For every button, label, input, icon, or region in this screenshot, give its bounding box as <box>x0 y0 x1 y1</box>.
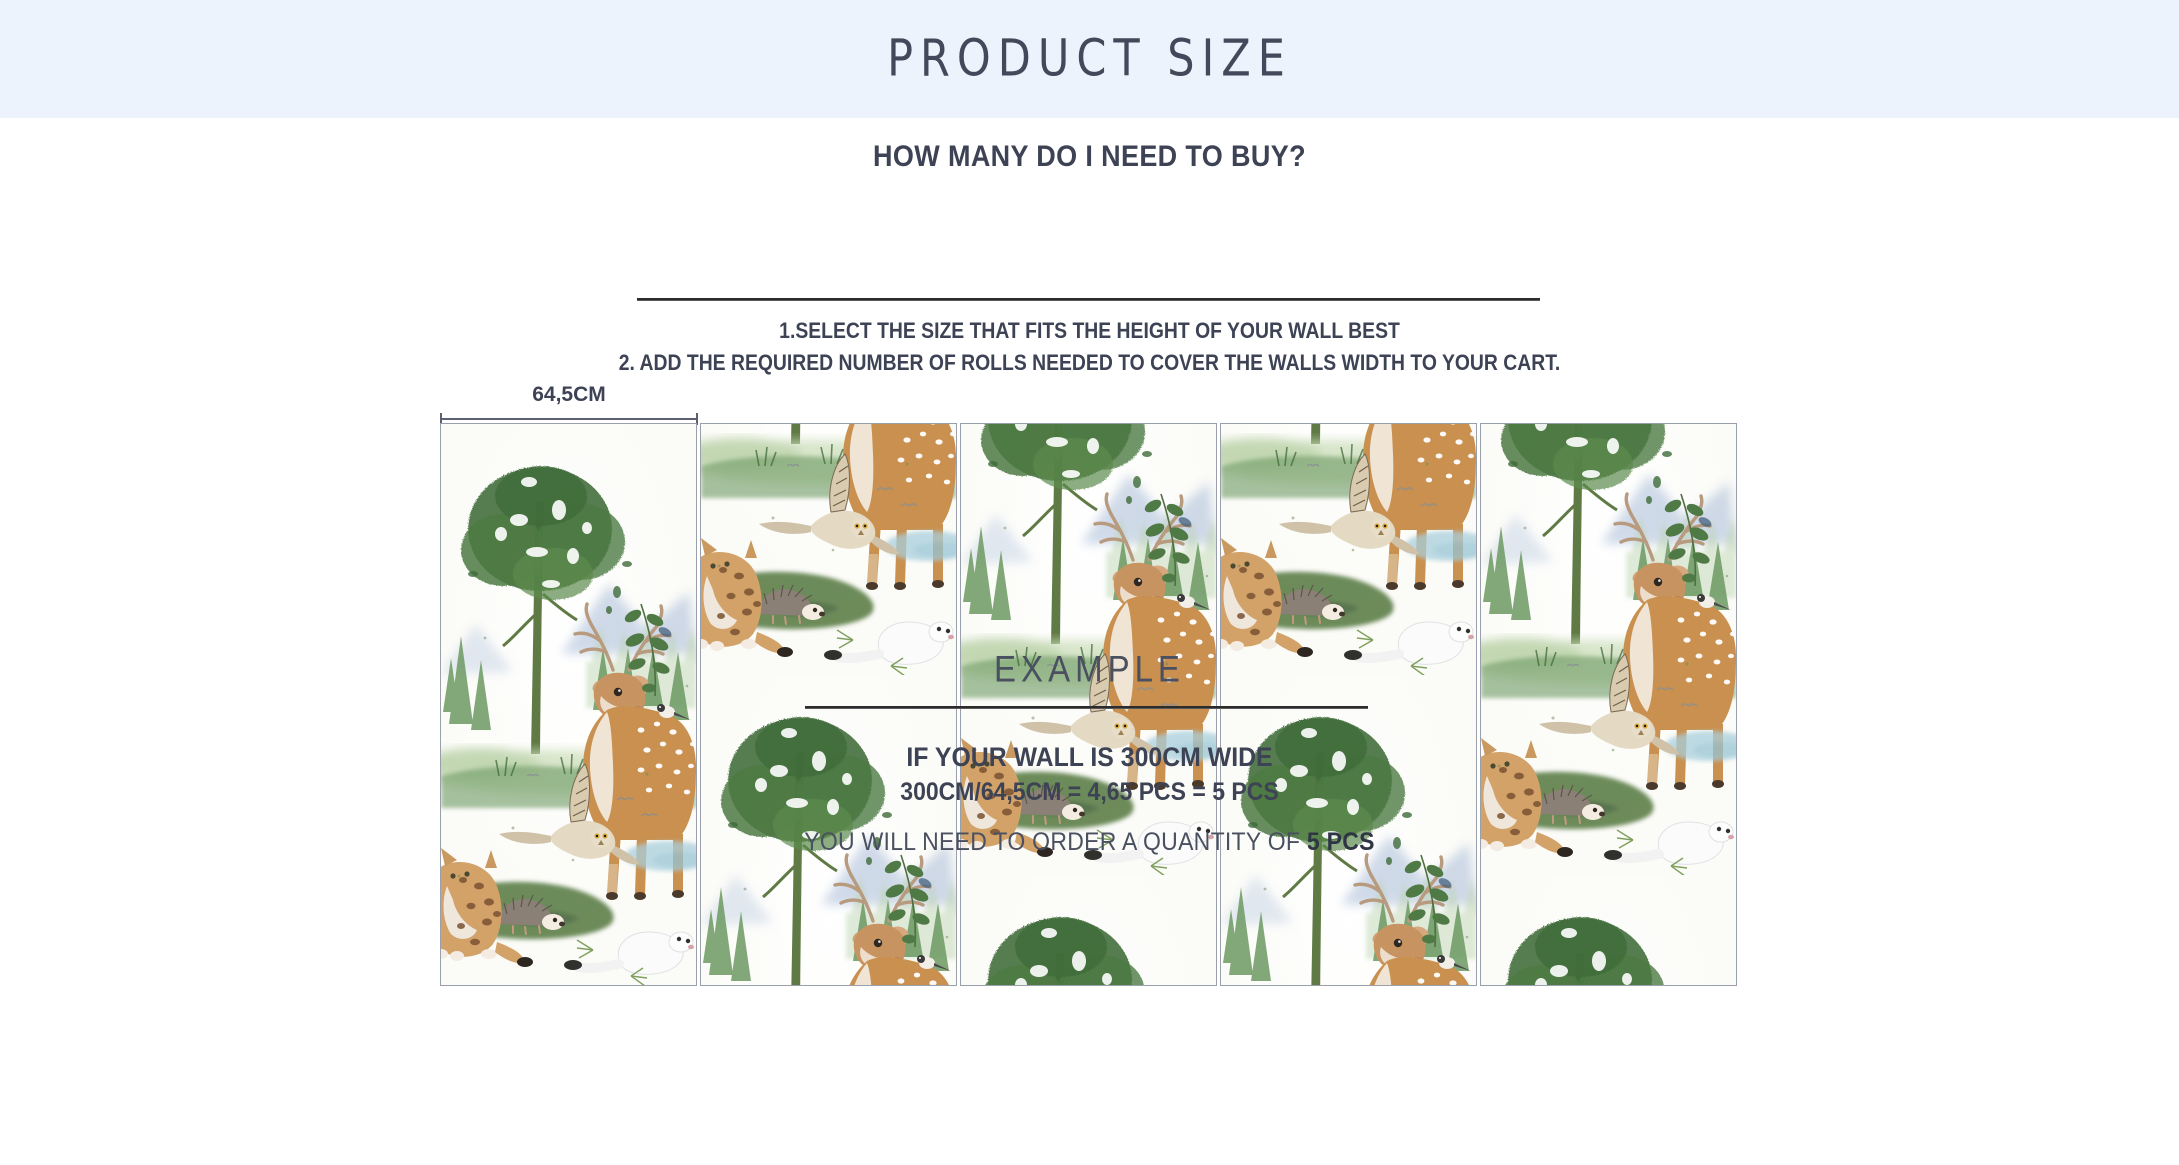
order-quantity-value: 5 PCS <box>1307 828 1375 856</box>
order-prefix-text: YOU WILL NEED TO ORDER A QUANTITY OF <box>804 828 1307 856</box>
wallpaper-pattern <box>441 424 696 986</box>
instruction-step-2: 2. ADD THE REQUIRED NUMBER OF ROLLS NEED… <box>131 350 2049 376</box>
wallpaper-roll[interactable] <box>700 423 957 986</box>
product-size-content: HOW MANY DO I NEED TO BUY? 1.SELECT THE … <box>0 118 2179 1165</box>
pattern-tile <box>701 423 956 675</box>
dimension-bar <box>440 418 698 420</box>
pattern-tile <box>441 424 696 985</box>
roll-width-label: 64,5CM <box>440 383 698 407</box>
pattern-tile <box>441 985 696 986</box>
example-order-quantity: YOU WILL NEED TO ORDER A QUANTITY OF 5 P… <box>87 828 2092 857</box>
wallpaper-roll[interactable] <box>1480 423 1737 986</box>
example-wall-width: IF YOUR WALL IS 300CM WIDE <box>87 742 2092 773</box>
wallpaper-pattern <box>961 423 1216 986</box>
wallpaper-roll[interactable] <box>960 423 1217 986</box>
instruction-step-1: 1.SELECT THE SIZE THAT FITS THE HEIGHT O… <box>131 318 2049 344</box>
wallpaper-roll-strip <box>440 423 1740 986</box>
wallpaper-pattern <box>1481 423 1736 986</box>
example-divider <box>805 706 1368 709</box>
heading-divider <box>637 298 1540 301</box>
wallpaper-pattern <box>701 423 956 986</box>
wallpaper-roll[interactable] <box>440 423 697 986</box>
pattern-tile <box>1481 875 1736 986</box>
product-size-header: PRODUCT SIZE <box>0 0 2179 118</box>
page-title: PRODUCT SIZE <box>887 30 1292 89</box>
pattern-tile <box>961 875 1216 986</box>
example-calculation: 300CM/64,5CM = 4,65 PCS = 5 PCS <box>87 778 2092 807</box>
wallpaper-pattern <box>1221 423 1476 986</box>
how-many-heading: HOW MANY DO I NEED TO BUY? <box>109 140 2070 174</box>
wallpaper-roll[interactable] <box>1220 423 1477 986</box>
pattern-tile <box>1221 423 1476 675</box>
example-heading: EXAMPLE <box>0 648 2179 691</box>
